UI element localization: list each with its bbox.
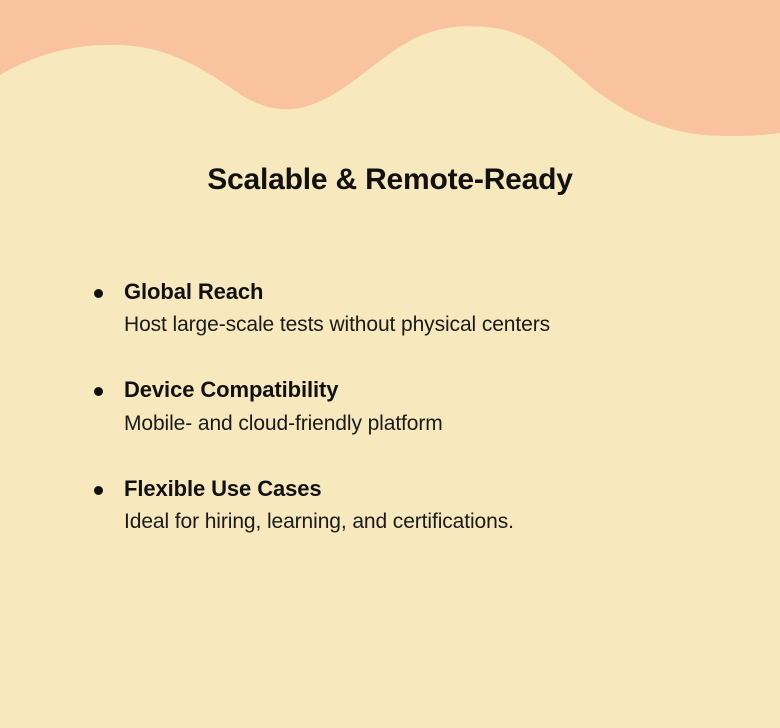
top-wave-decoration <box>0 0 780 160</box>
feature-description: Host large-scale tests without physical … <box>124 311 750 338</box>
list-item: Flexible Use Cases Ideal for hiring, lea… <box>90 475 750 535</box>
slide-canvas: Scalable & Remote-Ready Global Reach Hos… <box>0 0 780 728</box>
feature-heading: Flexible Use Cases <box>124 475 750 503</box>
bullet-dot-icon <box>94 387 103 396</box>
feature-heading: Device Compatibility <box>124 376 750 404</box>
list-item: Device Compatibility Mobile- and cloud-f… <box>90 376 750 436</box>
bullet-dot-icon <box>94 289 103 298</box>
bullet-dot-icon <box>94 486 103 495</box>
feature-heading: Global Reach <box>124 278 750 306</box>
feature-description: Mobile- and cloud-friendly platform <box>124 410 750 437</box>
feature-description: Ideal for hiring, learning, and certific… <box>124 508 750 535</box>
page-title: Scalable & Remote-Ready <box>0 161 780 199</box>
feature-list: Global Reach Host large-scale tests with… <box>90 278 750 535</box>
list-item: Global Reach Host large-scale tests with… <box>90 278 750 338</box>
